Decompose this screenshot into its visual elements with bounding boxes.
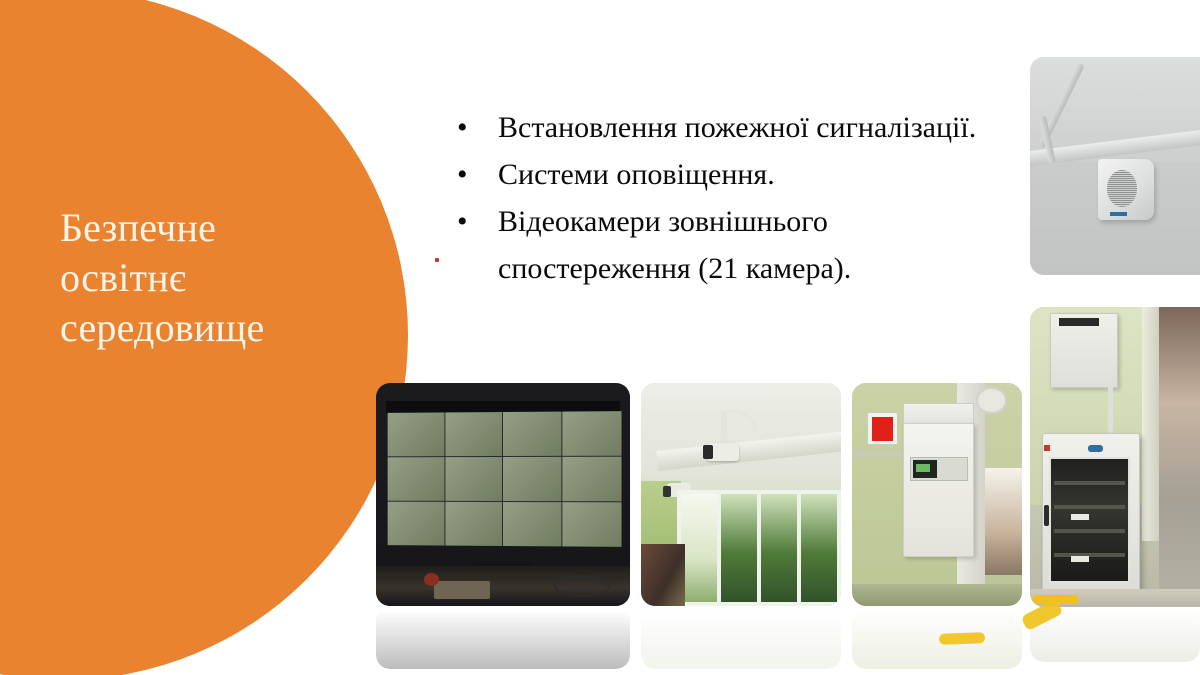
yellow-accent-mark [939,632,985,645]
photo-reflection [376,607,630,669]
bullet-text: Встановлення пожежної сигналізації. [498,104,1022,151]
stray-red-dot-mark [435,258,439,262]
title-line-2: освітнє [60,253,360,303]
bullet-marker-icon: • [452,104,498,151]
bullet-marker-icon: • [452,151,498,198]
photo-cctv-monitor-wall [376,383,630,606]
photo-wall-alarm-siren [1030,57,1200,275]
photo-fire-alarm-control-panel [852,383,1022,606]
bullet-list: • Встановлення пожежної сигналізації. • … [452,104,1022,292]
list-item: • Відеокамери зовнішнього спостереження … [452,198,1022,292]
photo-reflection [852,607,1022,669]
photo-corridor-ceiling-cameras [641,383,841,606]
bullet-marker-icon: • [452,198,498,245]
list-item: • Системи оповіщення. [452,151,1022,198]
list-item: • Встановлення пожежної сигналізації. [452,104,1022,151]
bullet-text: Системи оповіщення. [498,151,1022,198]
photo-server-rack-cabinet [1030,307,1200,607]
photo-reflection [641,607,841,669]
title-line-3: середовище [60,303,360,353]
slide-title: Безпечне освітнє середовище [60,203,360,353]
title-line-1: Безпечне [60,203,360,253]
bullet-text: Відеокамери зовнішнього спостереження (2… [498,198,1022,292]
presentation-slide: Безпечне освітнє середовище • Встановлен… [0,0,1200,675]
